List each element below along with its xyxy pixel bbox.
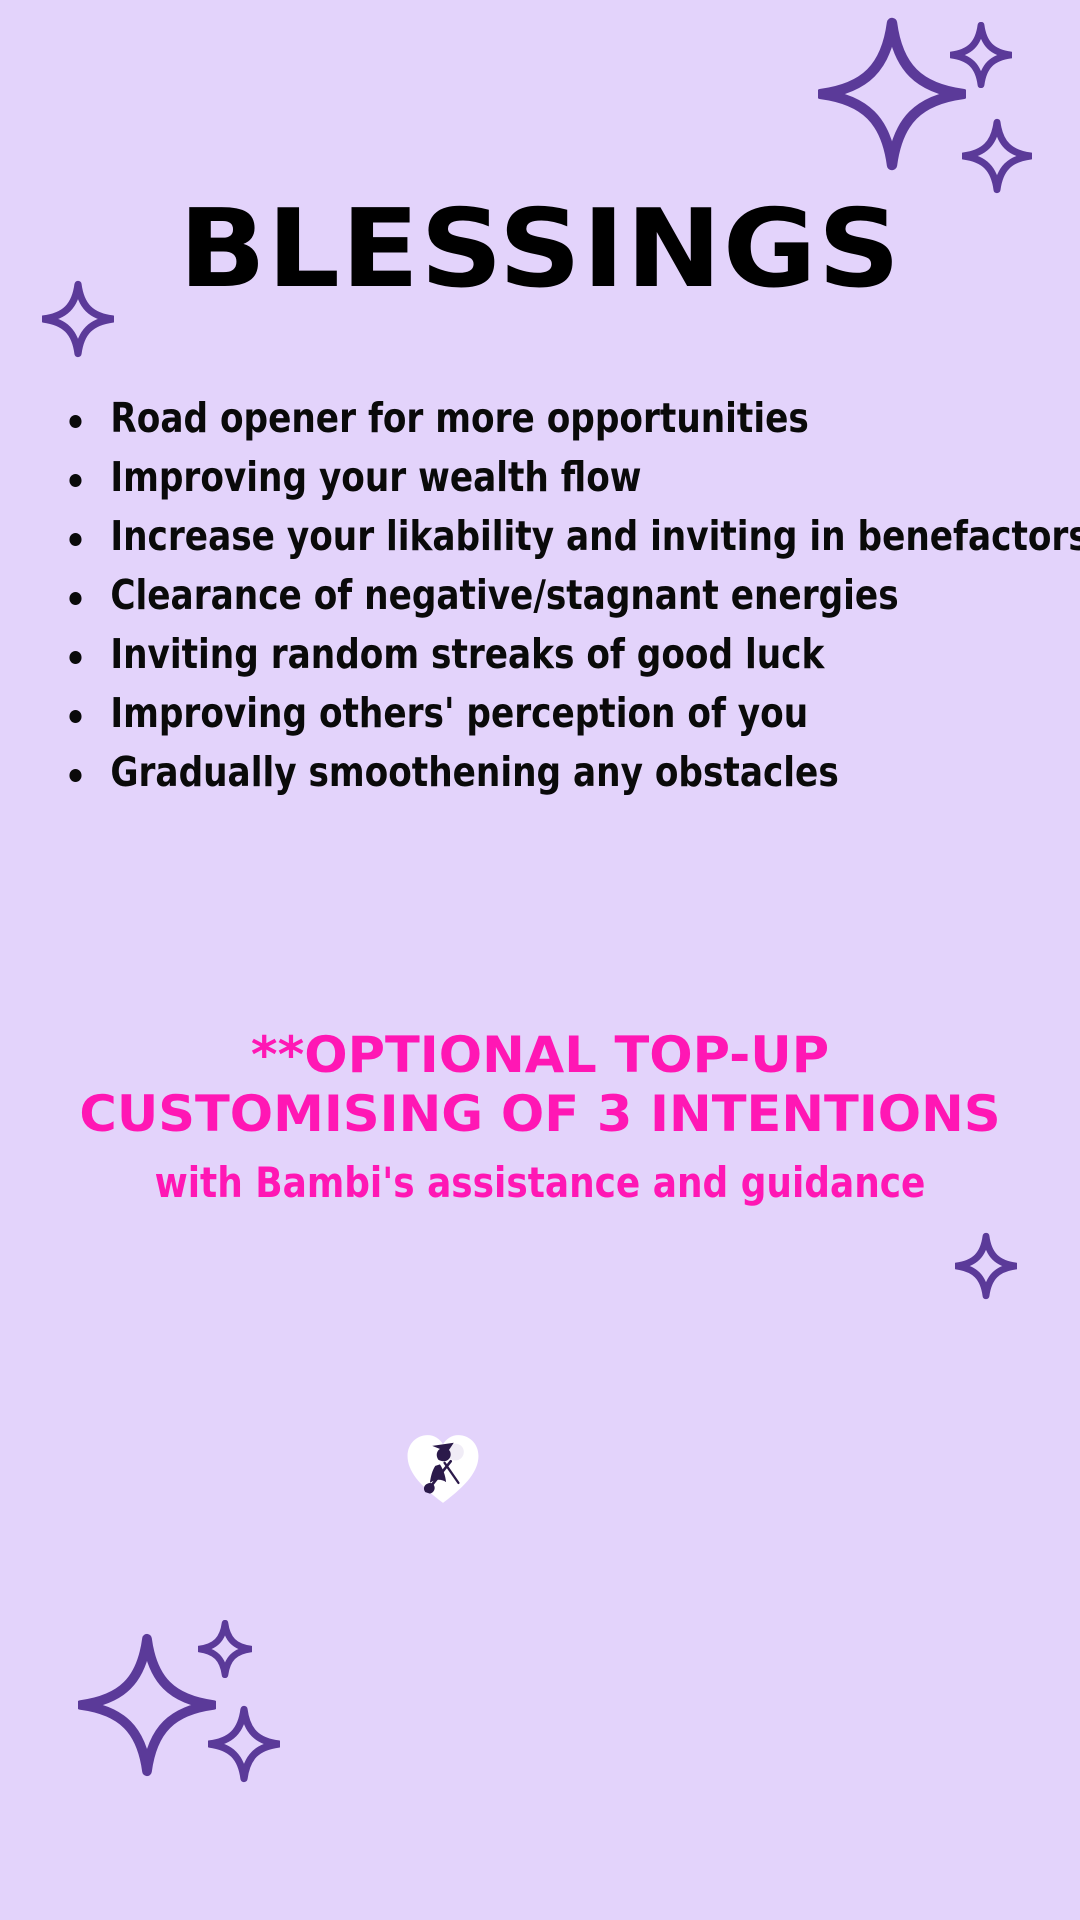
promo-heading-line-1: **OPTIONAL TOP-UP (0, 1026, 1080, 1085)
promo-subtitle: with Bambi's assistance and guidance (27, 1162, 1053, 1204)
list-item-label: Increase your likability and inviting in… (110, 512, 1080, 560)
list-item: Improving others' perception of you (62, 693, 978, 734)
list-item-label: Clearance of negative/stagnant energies (110, 571, 898, 619)
list-item-label: Gradually smoothening any obstacles (110, 748, 838, 796)
list-item-label: Improving your wealth flow (110, 453, 641, 501)
sparkle-icon-bottom-large (78, 1630, 216, 1780)
sparkle-icon-top-medium (962, 118, 1032, 194)
list-item: Clearance of negative/stagnant energies (62, 575, 978, 616)
bullet-dot-icon (69, 415, 81, 428)
promo-heading-line-2: CUSTOMISING OF 3 INTENTIONS (0, 1085, 1080, 1144)
list-item: Inviting random streaks of good luck (62, 634, 978, 675)
list-item: Gradually smoothening any obstacles (62, 752, 978, 793)
list-item-label: Inviting random streaks of good luck (110, 630, 824, 678)
optional-topup-block: **OPTIONAL TOP-UP CUSTOMISING OF 3 INTEN… (0, 1026, 1080, 1204)
list-item: Improving your wealth flow (62, 457, 978, 498)
list-item: Road opener for more opportunities (62, 398, 978, 439)
bullet-dot-icon (69, 769, 81, 782)
sparkle-icon-top-small (950, 22, 1012, 88)
poster-canvas: BLESSINGS Road opener for more opportuni… (0, 0, 1080, 1920)
list-item-label: Road opener for more opportunities (110, 394, 808, 442)
bullet-dot-icon (69, 592, 81, 605)
bullet-dot-icon (69, 651, 81, 664)
bullet-dot-icon (69, 533, 81, 546)
sparkle-icon-top-large (818, 14, 966, 174)
blessings-list: Road opener for more opportunities Impro… (62, 398, 1047, 811)
sparkle-icon-right-middle (955, 1232, 1017, 1300)
sparkle-icon-bottom-small (198, 1620, 252, 1678)
witch-heart-logo-icon (404, 1432, 482, 1506)
page-title: BLESSINGS (0, 196, 1080, 304)
list-item: Increase your likability and inviting in… (62, 516, 978, 557)
bullet-dot-icon (69, 710, 81, 723)
bullet-dot-icon (69, 474, 81, 487)
sparkle-icon-bottom-medium (208, 1705, 280, 1783)
list-item-label: Improving others' perception of you (110, 689, 808, 737)
